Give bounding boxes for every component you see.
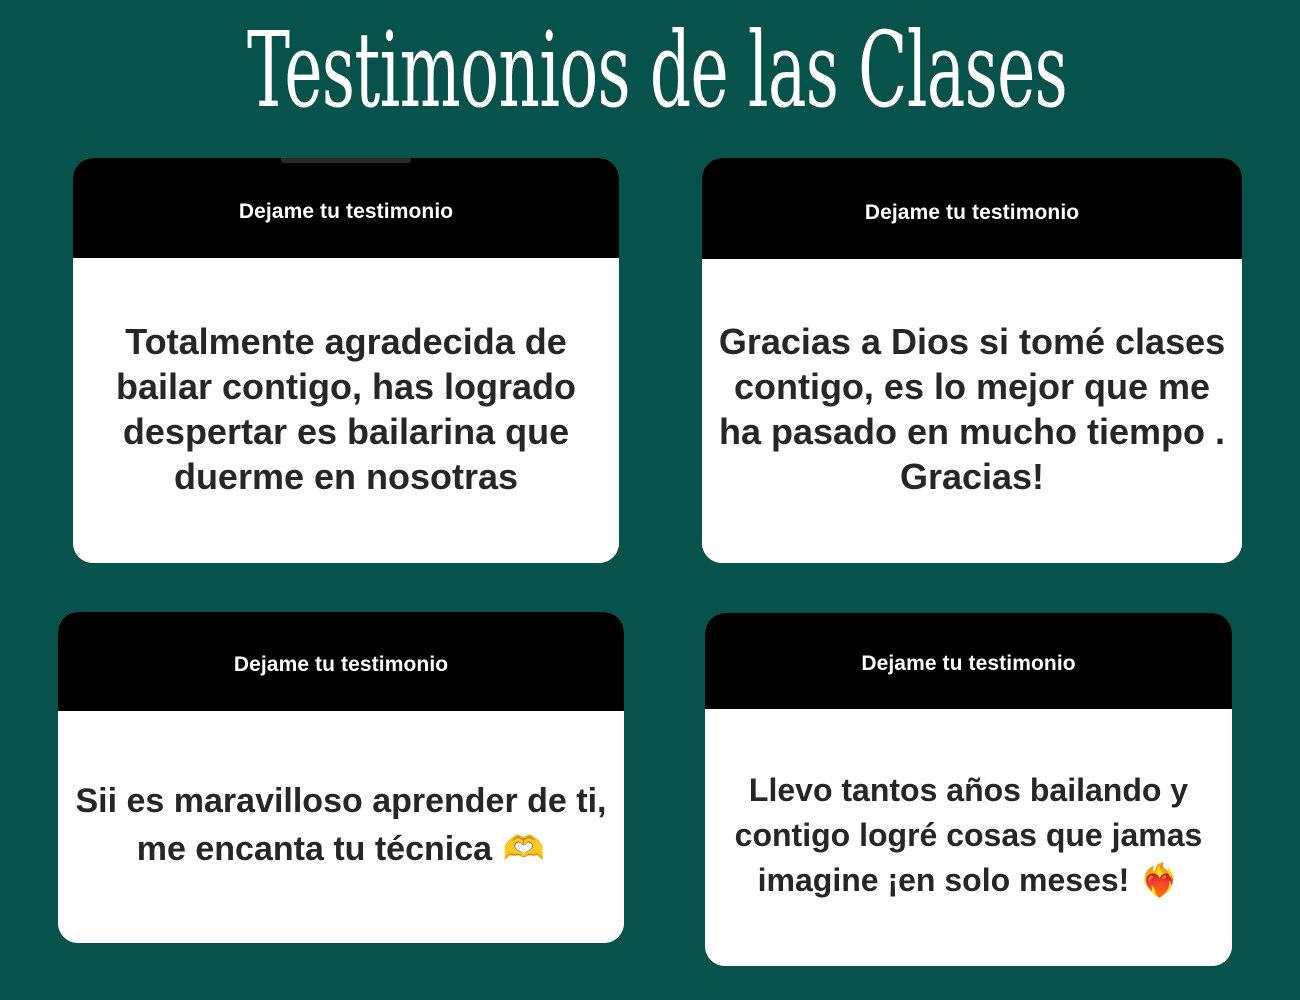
card-body: Llevo tantos años bailando y contigo log… — [705, 709, 1232, 966]
card-header-label: Dejame tu testimonio — [865, 200, 1079, 226]
card-header: Dejame tu testimonio — [705, 613, 1232, 709]
testimonial-card: Dejame tu testimonio Totalmente agradeci… — [73, 158, 619, 563]
card-body: Gracias a Dios si tomé clases contigo, e… — [702, 259, 1242, 563]
testimonial-text: Sii es maravilloso aprender de ti, me en… — [72, 777, 610, 873]
card-header-label: Dejame tu testimonio — [239, 199, 453, 225]
card-header: Dejame tu testimonio — [58, 612, 624, 711]
testimonial-text: Llevo tantos años bailando y contigo log… — [719, 768, 1218, 903]
testimonial-text: Gracias a Dios si tomé clases contigo, e… — [716, 319, 1228, 499]
testimonial-text: Totalmente agradecida de bailar contigo,… — [87, 319, 605, 499]
heart-on-fire-emoji: ❤️‍🔥 — [1129, 861, 1179, 899]
heart-hands-emoji: 🫶 — [492, 829, 545, 869]
card-body: Sii es maravilloso aprender de ti, me en… — [58, 711, 624, 943]
status-bar-notch — [281, 158, 411, 163]
testimonial-card: Dejame tu testimonio Gracias a Dios si t… — [702, 158, 1242, 563]
card-header-label: Dejame tu testimonio — [234, 652, 448, 678]
card-header: Dejame tu testimonio — [73, 158, 619, 258]
card-header-label: Dejame tu testimonio — [861, 651, 1075, 677]
page-title: Testimonios de las Clases — [247, 8, 1053, 132]
testimonials-poster: Testimonios de las Clases Dejame tu test… — [0, 0, 1300, 1000]
testimonial-card: Dejame tu testimonio Llevo tantos años b… — [705, 613, 1232, 966]
testimonial-card: Dejame tu testimonio Sii es maravilloso … — [58, 612, 624, 943]
card-header: Dejame tu testimonio — [702, 158, 1242, 259]
card-body: Totalmente agradecida de bailar contigo,… — [73, 258, 619, 563]
